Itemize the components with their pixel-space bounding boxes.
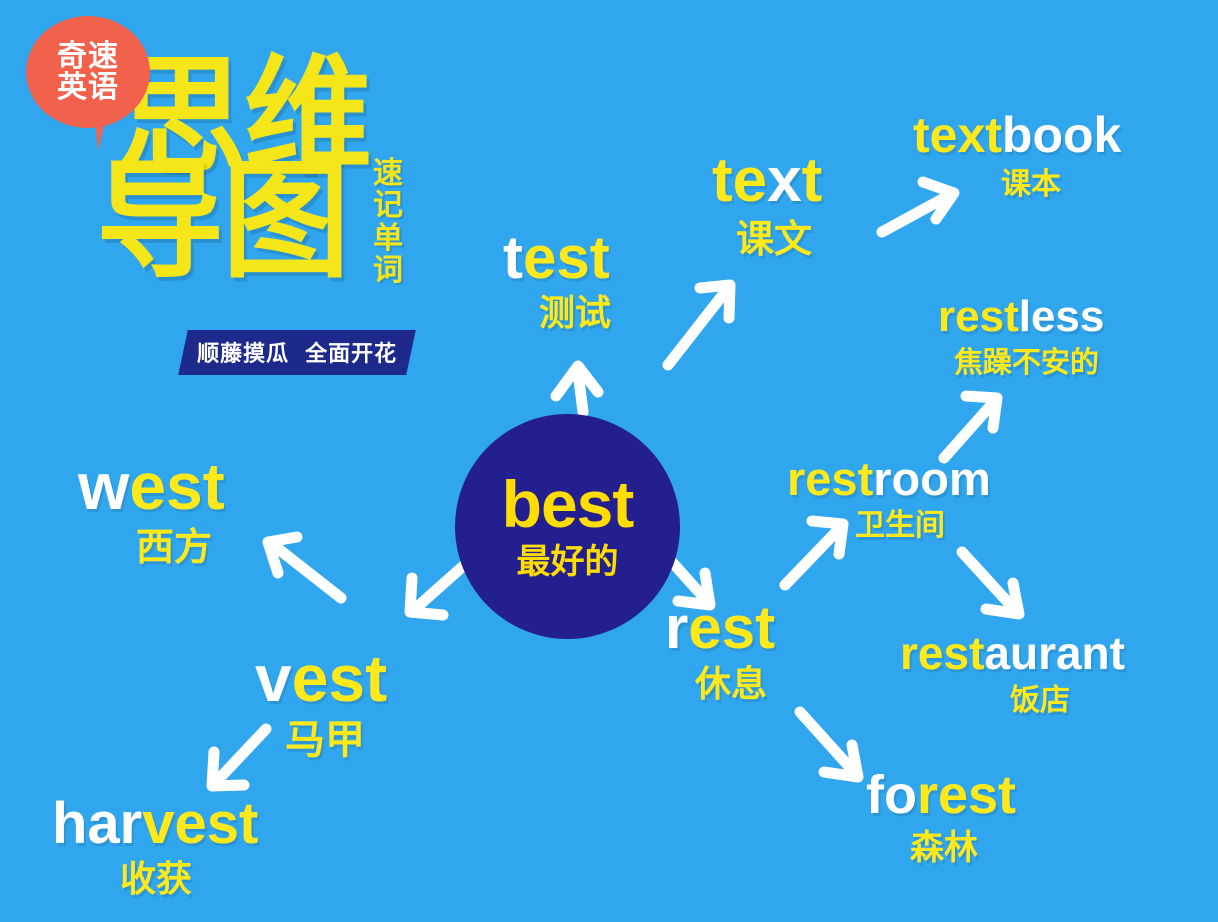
node-restless[interactable]: restless 焦躁不安的: [938, 295, 1104, 377]
arrow-best-to-vest: [410, 560, 470, 615]
arrow-rest-to-forest: [800, 712, 858, 777]
node-restaurant-prefix: rest: [900, 627, 984, 679]
node-rest-prefix: r: [665, 594, 688, 661]
badge-line-1: 奇速: [57, 41, 119, 73]
node-west-meaning: 西方: [136, 528, 225, 566]
node-restaurant-suffix: aurant: [984, 627, 1125, 679]
node-harvest-meaning: 收获: [120, 862, 258, 898]
node-rest[interactable]: rest 休息: [665, 598, 775, 703]
node-forest-meaning: 森林: [910, 831, 1016, 865]
brand-logo: 奇速 英语 思维 导图 速记单词 顺藤摸瓜全面开花: [0, 0, 470, 390]
ribbon-left-text: 顺藤摸瓜: [197, 336, 289, 368]
node-text-prefix: te: [712, 146, 767, 215]
node-text-mid: x: [767, 146, 801, 215]
node-vest-prefix: v: [255, 641, 292, 715]
node-west-prefix: w: [78, 449, 129, 523]
node-test-meaning: 测试: [539, 296, 611, 332]
node-restaurant[interactable]: restaurant 饭店: [900, 630, 1125, 716]
node-rest-meaning: 休息: [695, 667, 775, 703]
node-rest-suffix: est: [688, 594, 775, 661]
node-test-suffix: est: [523, 224, 610, 291]
arrow-test-to-text: [668, 285, 730, 365]
node-text-suffix: t: [802, 146, 823, 215]
node-vest[interactable]: vest 马甲: [255, 645, 387, 760]
node-forest-suffix: rest: [917, 765, 1016, 825]
node-text[interactable]: text 课文: [712, 150, 822, 258]
node-text-meaning: 课文: [736, 220, 822, 258]
node-vest-suffix: est: [292, 641, 387, 715]
node-restroom-prefix: rest: [787, 452, 873, 505]
node-harvest-prefix: har: [52, 791, 142, 856]
title-vertical-subtitle: 速记单词: [372, 158, 404, 288]
badge-line-2: 英语: [57, 72, 119, 104]
node-test[interactable]: test 测试: [503, 228, 611, 332]
node-forest-prefix: fo: [866, 765, 917, 825]
mindmap-canvas: 奇速 英语 思维 导图 速记单词 顺藤摸瓜全面开花 best 最好的 test …: [0, 0, 1218, 922]
node-textbook-suffix: book: [1002, 107, 1121, 163]
node-best-word: best: [502, 471, 634, 537]
node-restless-meaning: 焦躁不安的: [954, 348, 1104, 377]
node-vest-meaning: 马甲: [285, 720, 387, 760]
node-best-meaning: 最好的: [517, 545, 619, 579]
ribbon-right-text: 全面开花: [305, 336, 397, 368]
node-textbook-meaning: 课本: [1001, 170, 1121, 200]
node-textbook[interactable]: textbook 课本: [913, 110, 1121, 200]
node-harvest-suffix: vest: [142, 791, 258, 856]
node-restaurant-meaning: 饭店: [1010, 686, 1125, 716]
node-west-suffix: est: [129, 449, 224, 523]
node-restroom[interactable]: restroom 卫生间: [787, 455, 991, 541]
node-harvest[interactable]: harvest 收获: [52, 795, 258, 898]
arrow-restroom-to-restaurant: [962, 552, 1019, 614]
node-test-prefix: t: [503, 224, 523, 291]
node-best[interactable]: best 最好的: [455, 414, 680, 639]
node-restroom-meaning: 卫生间: [855, 511, 991, 541]
brand-badge: 奇速 英语: [26, 16, 150, 128]
node-restless-prefix: rest: [938, 292, 1019, 341]
title-line-2: 导图: [96, 158, 348, 286]
node-forest[interactable]: forest 森林: [866, 768, 1016, 865]
arrow-restroom-to-restless: [944, 396, 997, 458]
node-restless-suffix: less: [1019, 292, 1105, 341]
title-ribbon: 顺藤摸瓜全面开花: [178, 330, 416, 375]
arrow-vest-to-west: [268, 537, 341, 598]
node-west[interactable]: west 西方: [78, 453, 225, 566]
node-restroom-suffix: room: [873, 452, 991, 505]
arrow-best-to-test: [556, 366, 598, 412]
node-textbook-prefix: text: [913, 107, 1002, 163]
